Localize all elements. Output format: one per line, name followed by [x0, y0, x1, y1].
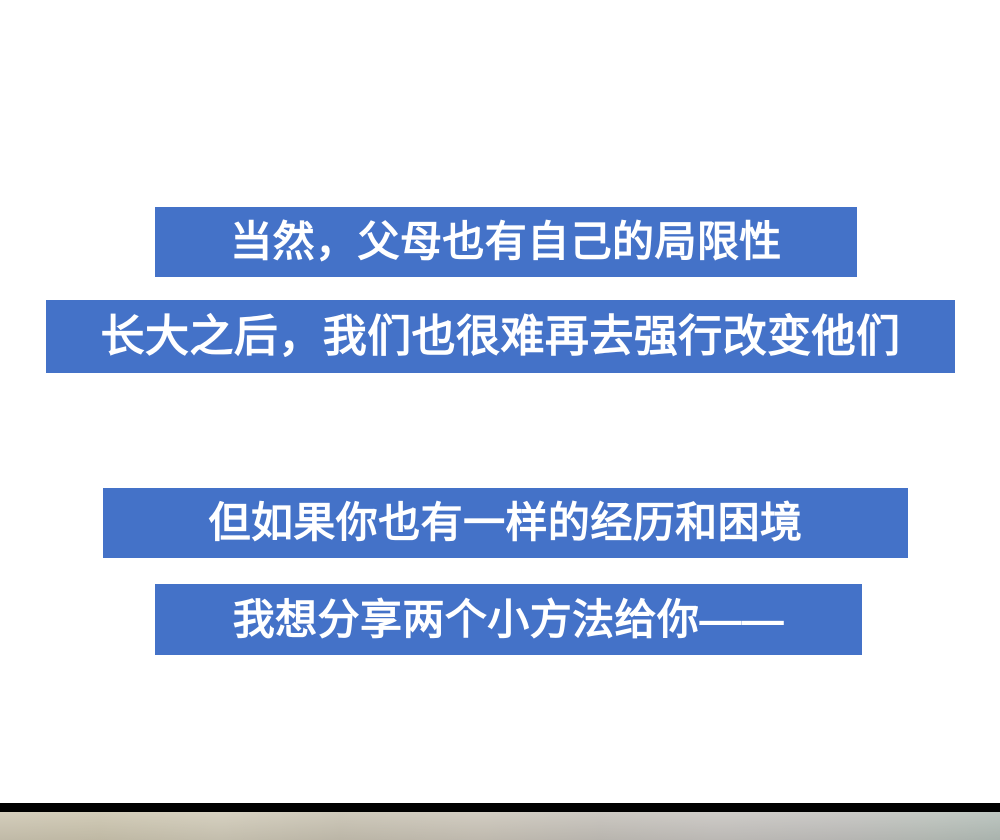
text-banner-4: 我想分享两个小方法给你——	[155, 584, 862, 655]
slide-canvas: 当然，父母也有自己的局限性 长大之后，我们也很难再去强行改变他们 但如果你也有一…	[0, 0, 1000, 840]
text-banner-1: 当然，父母也有自己的局限性	[155, 207, 857, 277]
banner-1-text: 当然，父母也有自己的局限性	[230, 221, 781, 263]
text-banner-3: 但如果你也有一样的经历和困境	[103, 488, 908, 558]
banner-4-text: 我想分享两个小方法给你——	[233, 599, 784, 641]
banner-2-text: 长大之后，我们也很难再去强行改变他们	[101, 315, 901, 359]
text-banner-2: 长大之后，我们也很难再去强行改变他们	[46, 300, 955, 373]
bottom-divider	[0, 803, 1000, 812]
banner-3-text: 但如果你也有一样的经历和困境	[209, 502, 803, 544]
bottom-photo-strip	[0, 812, 1000, 840]
